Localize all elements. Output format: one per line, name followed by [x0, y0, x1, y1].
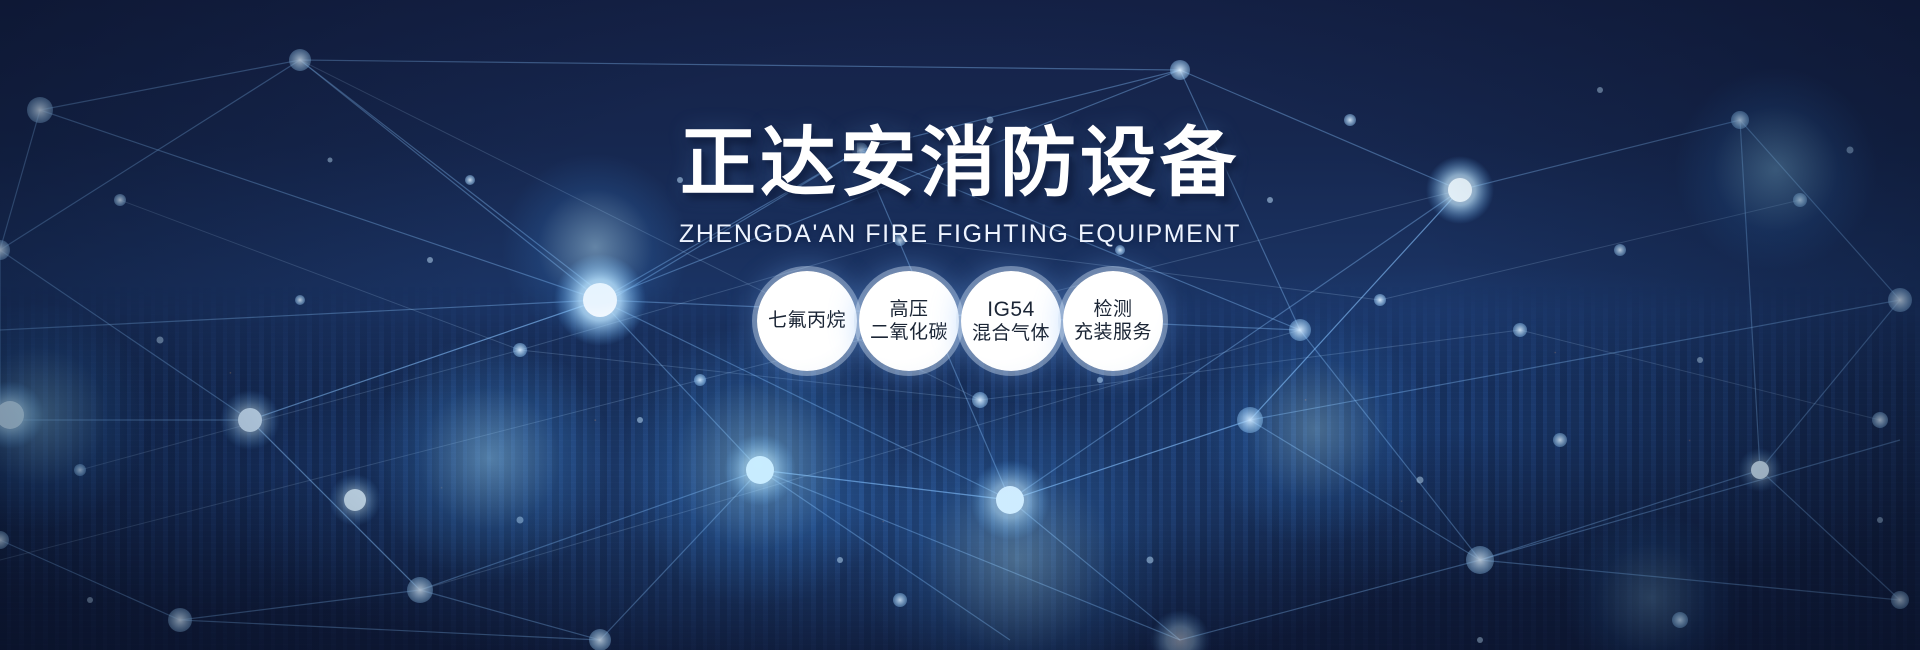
product-badge-line1: 检测 [1093, 298, 1132, 321]
product-badge-line1: 七氟丙烷 [768, 309, 846, 332]
product-badge-line1: 高压 [889, 298, 928, 321]
product-badge-inspection-filling-service[interactable]: 检测 充装服务 [1063, 271, 1163, 371]
hero-banner: 正达安消防设备 ZHENGDA'AN FIRE FIGHTING EQUIPME… [0, 0, 1920, 650]
product-badge-line2: 充装服务 [1074, 321, 1152, 344]
product-badge-list: 七氟丙烷 高压 二氧化碳 IG54 混合气体 检测 充装服务 [757, 271, 1163, 371]
product-badge-line2: 二氧化碳 [870, 321, 948, 344]
company-title: 正达安消防设备 [680, 126, 1240, 202]
company-subtitle-english: ZHENGDA'AN FIRE FIGHTING EQUIPMENT [679, 220, 1241, 249]
product-badge-high-pressure-co2[interactable]: 高压 二氧化碳 [859, 271, 959, 371]
product-badge-heptafluoropropane[interactable]: 七氟丙烷 [757, 271, 857, 371]
banner-content: 正达安消防设备 ZHENGDA'AN FIRE FIGHTING EQUIPME… [0, 0, 1920, 650]
product-badge-ig54-mixed-gas[interactable]: IG54 混合气体 [961, 271, 1061, 371]
product-badge-line1: IG54 [987, 297, 1035, 323]
product-badge-line2: 混合气体 [972, 322, 1050, 345]
